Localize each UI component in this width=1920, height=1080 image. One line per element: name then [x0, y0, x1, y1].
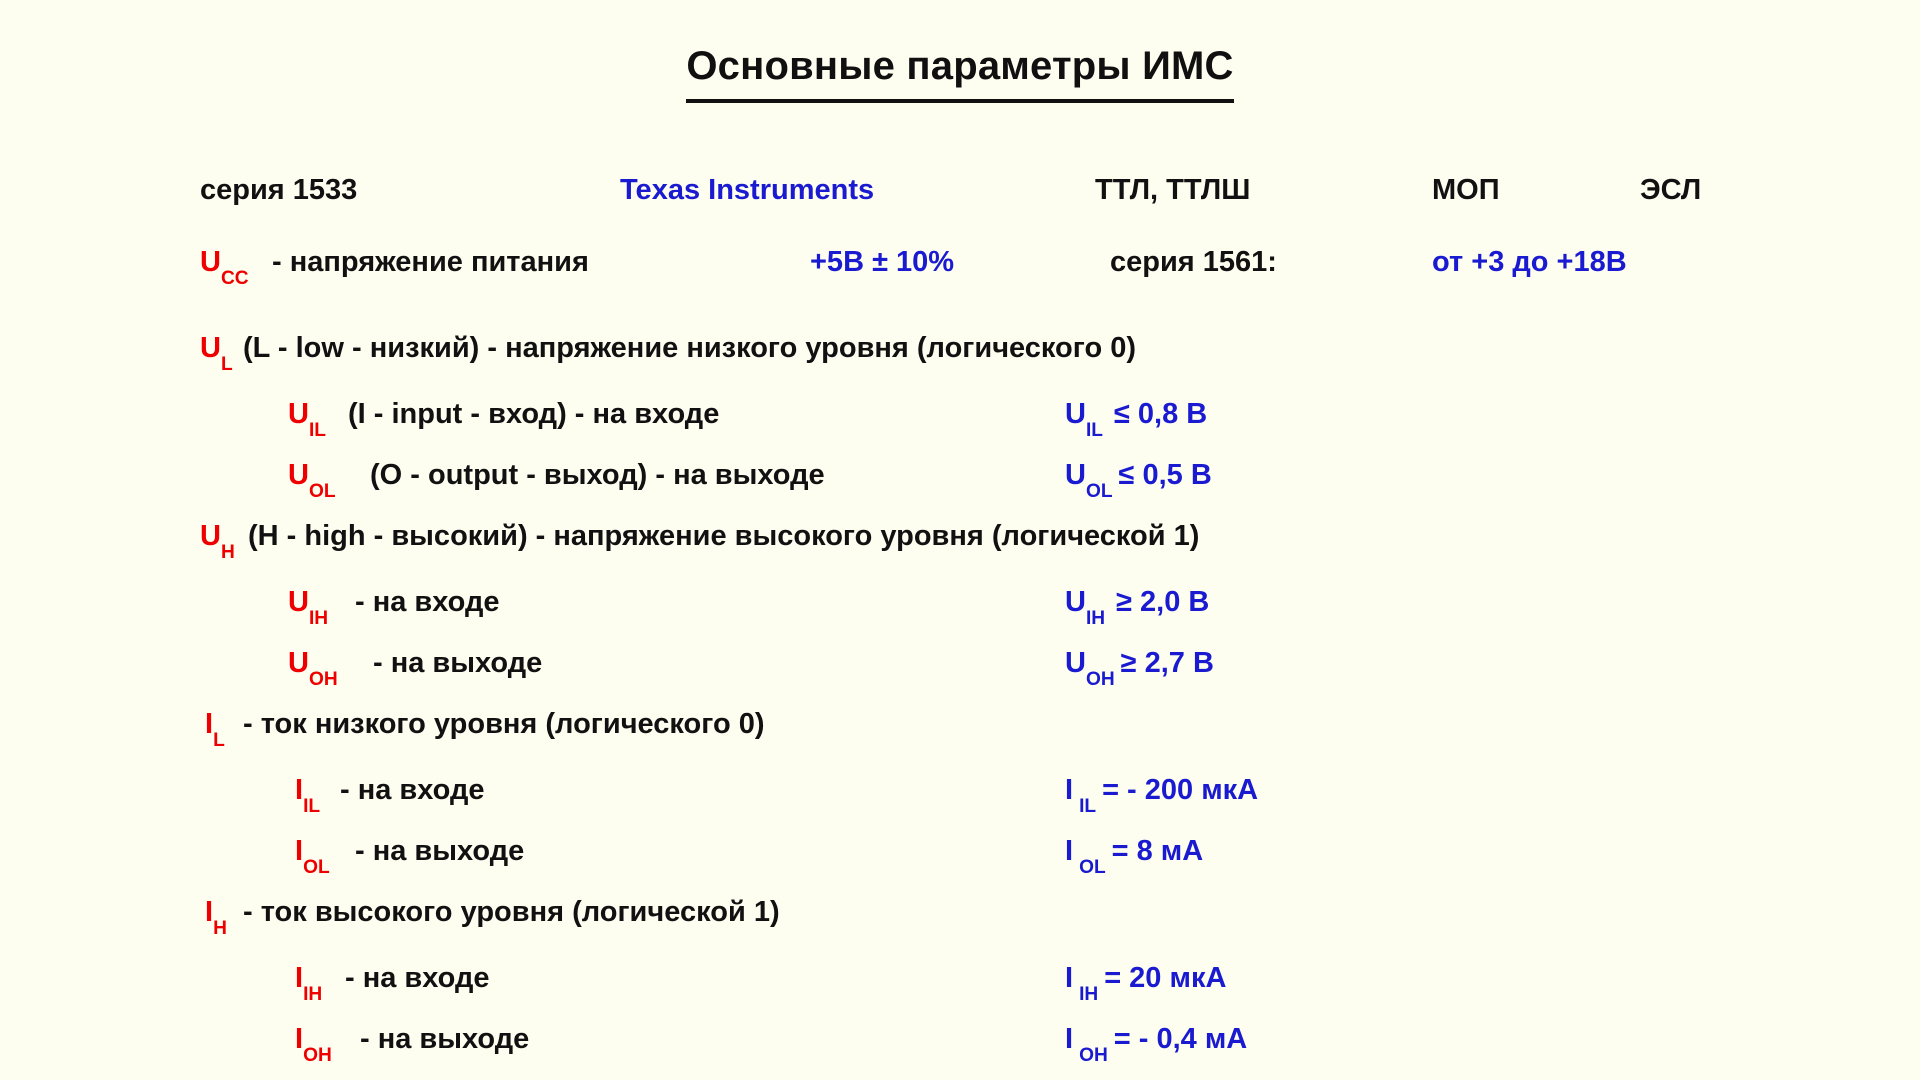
section-symbol-subscript: H: [221, 542, 235, 563]
section-header-u-high: UH (H - high - высокий) - напряжение выс…: [0, 506, 1920, 572]
param-symbol-uol: UOL: [288, 445, 336, 506]
param-value-rest: = 20 мкА: [1104, 962, 1226, 994]
param-value-main: U: [1065, 398, 1086, 430]
section-symbol-main: U: [200, 332, 221, 364]
param-value-subscript: IH: [1086, 608, 1105, 629]
param-value-rest: = - 0,4 мА: [1114, 1023, 1247, 1055]
param-row-uil: UIL (I - input - вход) - на входе UIL≤ 0…: [0, 384, 1920, 445]
param-symbol-uoh: UOH: [288, 633, 338, 694]
param-symbol-subscript: IH: [309, 608, 328, 629]
param-value-rest: ≥ 2,0 В: [1116, 586, 1209, 618]
param-description-ioh: - на выходе: [360, 1009, 529, 1070]
param-value-subscript: OH: [1079, 1045, 1108, 1066]
header-row: серия 1533 Texas Instruments ТТЛ, ТТЛШ М…: [0, 160, 1920, 232]
section-symbol-main: I: [205, 708, 213, 740]
section-description-i-low: - ток низкого уровня (логического 0): [243, 694, 765, 755]
param-row-uol: UOL (O - output - выход) - на выходе UOL…: [0, 445, 1920, 506]
param-symbol-iil: IIL: [295, 760, 320, 821]
param-value-rest: = 8 мА: [1112, 835, 1204, 867]
param-description-iih: - на входе: [345, 948, 490, 1009]
section-symbol-i-low: IL: [205, 694, 225, 755]
supply-symbol-main: U: [200, 246, 221, 278]
supply-description: - напряжение питания: [272, 232, 589, 293]
param-description-iil: - на входе: [340, 760, 485, 821]
param-value-subscript: IL: [1079, 796, 1096, 817]
series-label: серия 1533: [200, 160, 357, 221]
section-header-i-high: IH - ток высокого уровня (логической 1): [0, 882, 1920, 948]
param-value-rest: ≥ 2,7 В: [1121, 647, 1214, 679]
param-value-main: I: [1065, 1023, 1073, 1055]
param-symbol-iol: IOL: [295, 821, 330, 882]
param-symbol-subscript: IL: [303, 796, 320, 817]
param-symbol-main: U: [288, 647, 309, 679]
param-value-ioh: IOH= - 0,4 мА: [1065, 1009, 1247, 1070]
section-description-u-low: (L - low - низкий) - напряжение низкого …: [243, 318, 1136, 379]
param-value-subscript: OL: [1079, 857, 1106, 878]
param-symbol-subscript: IL: [309, 420, 326, 441]
param-symbol-uih: UIH: [288, 572, 328, 633]
param-symbol-main: I: [295, 774, 303, 806]
param-description-uol: (O - output - выход) - на выходе: [370, 445, 825, 506]
page-title-container: Основные параметры ИМС: [0, 44, 1920, 103]
family-mos-label: МОП: [1432, 160, 1500, 221]
vendor-label: Texas Instruments: [620, 160, 874, 221]
supply-series-note: серия 1561:: [1110, 232, 1277, 293]
section-symbol-subscript: H: [213, 918, 227, 939]
param-description-uoh: - на выходе: [373, 633, 542, 694]
section-symbol-u-low: UL: [200, 318, 233, 379]
param-value-uih: UIH≥ 2,0 В: [1065, 572, 1209, 633]
supply-symbol: UCC: [200, 232, 249, 293]
supply-voltage-row: UCC - напряжение питания +5В ± 10% серия…: [0, 232, 1920, 318]
param-row-uih: UIH - на входе UIH≥ 2,0 В: [0, 572, 1920, 633]
param-symbol-subscript: OH: [303, 1045, 332, 1066]
param-symbol-iih: IIH: [295, 948, 322, 1009]
param-value-rest: ≤ 0,5 В: [1119, 459, 1212, 491]
param-value-subscript: OH: [1086, 669, 1115, 690]
param-symbol-main: U: [288, 586, 309, 618]
section-symbol-subscript: L: [213, 730, 225, 751]
family-ttl-label: ТТЛ, ТТЛШ: [1095, 160, 1250, 221]
supply-value: +5В ± 10%: [810, 232, 954, 293]
param-value-uol: UOL≤ 0,5 В: [1065, 445, 1212, 506]
param-symbol-main: I: [295, 962, 303, 994]
param-row-ioh: IOH - на выходе IOH= - 0,4 мА: [0, 1009, 1920, 1070]
param-value-main: I: [1065, 774, 1073, 806]
section-description-u-high: (H - high - высокий) - напряжение высоко…: [248, 506, 1199, 567]
page-title: Основные параметры ИМС: [686, 44, 1233, 103]
section-symbol-main: I: [205, 896, 213, 928]
param-symbol-subscript: OL: [309, 481, 336, 502]
param-symbol-main: I: [295, 1023, 303, 1055]
param-row-iil: IIL - на входе IIL= - 200 мкА: [0, 760, 1920, 821]
section-symbol-u-high: UH: [200, 506, 235, 567]
param-value-uil: UIL≤ 0,8 В: [1065, 384, 1207, 445]
supply-series-value: от +3 до +18В: [1432, 232, 1627, 293]
section-symbol-main: U: [200, 520, 221, 552]
param-value-subscript: IH: [1079, 984, 1098, 1005]
param-value-subscript: OL: [1086, 481, 1113, 502]
section-header-u-low: UL (L - low - низкий) - напряжение низко…: [0, 318, 1920, 384]
param-symbol-subscript: OL: [303, 857, 330, 878]
slide-root: Основные параметры ИМС серия 1533 Texas …: [0, 0, 1920, 1080]
param-value-main: U: [1065, 459, 1086, 491]
param-value-uoh: UOH≥ 2,7 В: [1065, 633, 1214, 694]
supply-symbol-subscript: CC: [221, 268, 249, 289]
param-row-iol: IOL - на выходе IOL= 8 мА: [0, 821, 1920, 882]
param-description-iol: - на выходе: [355, 821, 524, 882]
param-value-rest: ≤ 0,8 В: [1114, 398, 1207, 430]
param-symbol-uil: UIL: [288, 384, 326, 445]
param-value-subscript: IL: [1086, 420, 1103, 441]
section-description-i-high: - ток высокого уровня (логической 1): [243, 882, 780, 943]
param-value-main: I: [1065, 962, 1073, 994]
parameters-list: серия 1533 Texas Instruments ТТЛ, ТТЛШ М…: [0, 160, 1920, 1070]
param-value-main: I: [1065, 835, 1073, 867]
param-description-uil: (I - input - вход) - на входе: [348, 384, 719, 445]
param-symbol-main: U: [288, 459, 309, 491]
param-symbol-main: I: [295, 835, 303, 867]
param-row-iih: IIH - на входе IIH= 20 мкА: [0, 948, 1920, 1009]
param-value-main: U: [1065, 647, 1086, 679]
param-symbol-ioh: IOH: [295, 1009, 332, 1070]
section-header-i-low: IL - ток низкого уровня (логического 0): [0, 694, 1920, 760]
section-symbol-i-high: IH: [205, 882, 227, 943]
param-value-iol: IOL= 8 мА: [1065, 821, 1203, 882]
param-symbol-main: U: [288, 398, 309, 430]
section-symbol-subscript: L: [221, 354, 233, 375]
param-symbol-subscript: IH: [303, 984, 322, 1005]
family-ecl-label: ЭСЛ: [1640, 160, 1701, 221]
param-row-uoh: UOH - на выходе UOH≥ 2,7 В: [0, 633, 1920, 694]
param-value-rest: = - 200 мкА: [1102, 774, 1258, 806]
param-value-iih: IIH= 20 мкА: [1065, 948, 1226, 1009]
param-value-iil: IIL= - 200 мкА: [1065, 760, 1258, 821]
param-value-main: U: [1065, 586, 1086, 618]
param-description-uih: - на входе: [355, 572, 500, 633]
param-symbol-subscript: OH: [309, 669, 338, 690]
